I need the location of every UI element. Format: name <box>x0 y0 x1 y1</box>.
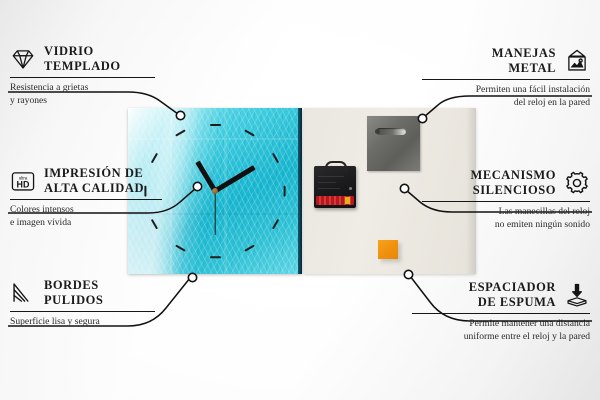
callout-divider <box>412 313 590 314</box>
callout-header: ESPACIADOR DE ESPUMA <box>412 280 590 310</box>
callout-bordes-pulidos: BORDES PULIDOS Superficie lisa y segura <box>10 278 155 329</box>
clock-tick <box>210 256 221 258</box>
gear-icon <box>564 170 590 196</box>
callout-title: MANEJAS METAL <box>492 46 556 76</box>
callout-title-line2: TEMPLADO <box>44 59 121 74</box>
callout-title-line1: VIDRIO <box>44 44 121 59</box>
battery-compartment <box>316 196 354 205</box>
polished-edges-icon <box>10 280 36 306</box>
callout-desc-line1: Permiten una fácil instalación <box>422 84 590 97</box>
hanger-keyhole-hole <box>375 129 380 134</box>
callout-desc-line1: Superficie lisa y segura <box>10 316 155 329</box>
callout-vidrio-templado: VIDRIO TEMPLADO Resistencia a grietas y … <box>10 44 155 107</box>
callout-impresion-alta-calidad: ultra HD IMPRESIÓN DE ALTA CALIDAD Color… <box>10 166 162 229</box>
mechanism-detail <box>318 188 340 189</box>
callout-title-line2: ALTA CALIDAD <box>44 181 144 196</box>
callout-title: VIDRIO TEMPLADO <box>44 44 121 74</box>
picture-hanger-icon <box>564 48 590 74</box>
clock-second-hand <box>214 191 215 235</box>
callout-description: Colores intensos e imagen vívida <box>10 204 162 229</box>
clock-tick <box>210 124 221 126</box>
ultra-hd-icon: ultra HD <box>10 168 36 194</box>
callout-header: BORDES PULIDOS <box>10 278 155 308</box>
callout-desc-line1: Las manecillas del reloj <box>422 206 590 219</box>
callout-title-line1: MECANISMO <box>470 168 556 183</box>
diamond-icon <box>10 46 36 72</box>
callout-title-line2: DE ESPUMA <box>469 295 556 310</box>
callout-divider <box>422 79 590 80</box>
ultra-hd-icon-big-label: HD <box>17 179 30 189</box>
callout-title: ESPACIADOR DE ESPUMA <box>469 280 556 310</box>
callout-manejas-metal: MANEJAS METAL Permiten una fácil instala… <box>422 46 590 109</box>
foam-spacer-icon <box>564 282 590 308</box>
callout-header: MECANISMO SILENCIOSO <box>422 168 590 198</box>
callout-header: ultra HD IMPRESIÓN DE ALTA CALIDAD <box>10 166 162 196</box>
callout-desc-line1: Resistencia a grietas <box>10 82 155 95</box>
foam-spacer <box>378 240 398 259</box>
callout-desc-line2: y rayones <box>10 95 155 108</box>
callout-divider <box>422 201 590 202</box>
glass-side-edge <box>298 108 302 274</box>
callout-desc-line2: del reloj en la pared <box>422 97 590 110</box>
mechanism-hook <box>325 161 347 172</box>
clock-center-pin <box>212 188 218 194</box>
callout-mecanismo-silencioso: MECANISMO SILENCIOSO Las manecillas del … <box>422 168 590 231</box>
mechanism-detail <box>318 176 344 177</box>
callout-divider <box>10 77 155 78</box>
infographic-canvas: VIDRIO TEMPLADO Resistencia a grietas y … <box>0 0 600 400</box>
callout-desc-line1: Permite mantener una distancia <box>412 318 590 331</box>
mechanism-detail <box>318 182 336 183</box>
metal-hanger-plate <box>367 116 420 171</box>
callout-title-line2: METAL <box>492 61 556 76</box>
callout-divider <box>10 311 155 312</box>
callout-description: Resistencia a grietas y rayones <box>10 82 155 107</box>
callout-desc-line2: no emiten ningún sonido <box>422 219 590 232</box>
callout-description: Permite mantener una distancia uniforme … <box>412 318 590 343</box>
clock-mechanism <box>314 166 356 208</box>
callout-desc-line1: Colores intensos <box>10 204 162 217</box>
callout-description: Las manecillas del reloj no emiten ningú… <box>422 206 590 231</box>
callout-divider <box>10 199 162 200</box>
callout-title-line1: ESPACIADOR <box>469 280 556 295</box>
callout-title-line1: BORDES <box>44 278 103 293</box>
callout-title: MECANISMO SILENCIOSO <box>470 168 556 198</box>
callout-title-line2: SILENCIOSO <box>470 183 556 198</box>
callout-espaciador-de-espuma: ESPACIADOR DE ESPUMA Permite mantener un… <box>412 280 590 343</box>
callout-description: Permiten una fácil instalación del reloj… <box>422 84 590 109</box>
callout-title: IMPRESIÓN DE ALTA CALIDAD <box>44 166 144 196</box>
hanger-keyhole-slot <box>376 128 406 135</box>
callout-desc-line2: uniforme entre el reloj y la pared <box>412 331 590 344</box>
callout-desc-line2: e imagen vívida <box>10 217 162 230</box>
mechanism-detail <box>349 187 352 190</box>
clock-tick <box>284 186 286 197</box>
callout-description: Superficie lisa y segura <box>10 316 155 329</box>
callout-title-line1: MANEJAS <box>492 46 556 61</box>
callout-title: BORDES PULIDOS <box>44 278 103 308</box>
callout-title-line2: PULIDOS <box>44 293 103 308</box>
callout-header: MANEJAS METAL <box>422 46 590 76</box>
callout-header: VIDRIO TEMPLADO <box>10 44 155 74</box>
callout-title-line1: IMPRESIÓN DE <box>44 166 144 181</box>
